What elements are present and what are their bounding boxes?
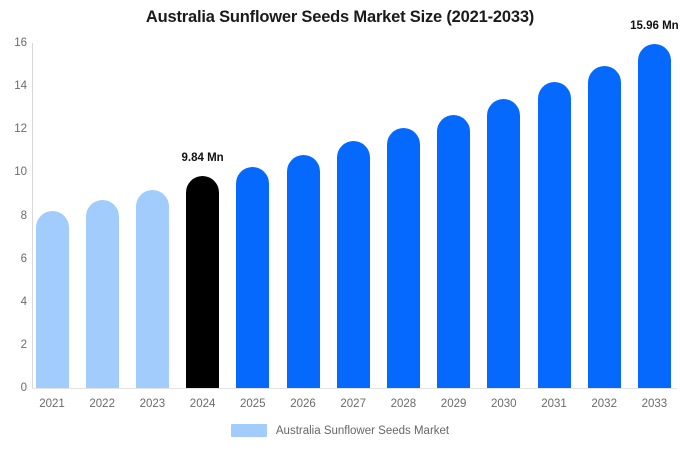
x-axis-tick-label-2028: 2028	[391, 398, 417, 410]
bar-2032[interactable]	[588, 66, 621, 388]
x-axis-tick-label-2029: 2029	[441, 398, 467, 410]
bar-2030[interactable]	[487, 99, 520, 388]
bar-2022[interactable]	[86, 200, 119, 388]
bar-2029[interactable]	[437, 115, 470, 388]
bar-2028[interactable]	[387, 128, 420, 388]
legend-label-australia-sunflower-seeds-market: Australia Sunflower Seeds Market	[276, 425, 449, 437]
bar-2026[interactable]	[287, 155, 320, 388]
bar-2021[interactable]	[36, 211, 69, 388]
x-axis-tick-label-2027: 2027	[340, 398, 366, 410]
x-axis-tick-label-2031: 2031	[541, 398, 567, 410]
bar-value-label-2024: 9.84 Mn	[182, 152, 224, 164]
x-axis-tick-label-2030: 2030	[491, 398, 517, 410]
x-axis-tick-label-2021: 2021	[39, 398, 65, 410]
x-axis-tick-label-2022: 2022	[89, 398, 115, 410]
bar-2024[interactable]	[186, 176, 219, 388]
x-axis-tick-label-2025: 2025	[240, 398, 266, 410]
bar-2033[interactable]	[638, 44, 671, 388]
bar-2023[interactable]	[136, 190, 169, 388]
x-axis-tick-label-2033: 2033	[642, 398, 668, 410]
bar-2027[interactable]	[337, 141, 370, 388]
x-axis-tick-label-2023: 2023	[140, 398, 166, 410]
bar-value-label-2033: 15.96 Mn	[630, 20, 679, 32]
chart-legend: Australia Sunflower Seeds Market	[0, 424, 680, 437]
chart-container: Australia Sunflower Seeds Market Size (2…	[0, 0, 680, 450]
x-axis-tick-label-2032: 2032	[591, 398, 617, 410]
x-axis-tick-label-2024: 2024	[190, 398, 216, 410]
bar-2031[interactable]	[538, 82, 571, 388]
bars-layer: 20212022202320249.84 Mn20252026202720282…	[0, 0, 680, 450]
legend-swatch-australia-sunflower-seeds-market	[231, 424, 267, 437]
x-axis-tick-label-2026: 2026	[290, 398, 316, 410]
bar-2025[interactable]	[236, 167, 269, 388]
